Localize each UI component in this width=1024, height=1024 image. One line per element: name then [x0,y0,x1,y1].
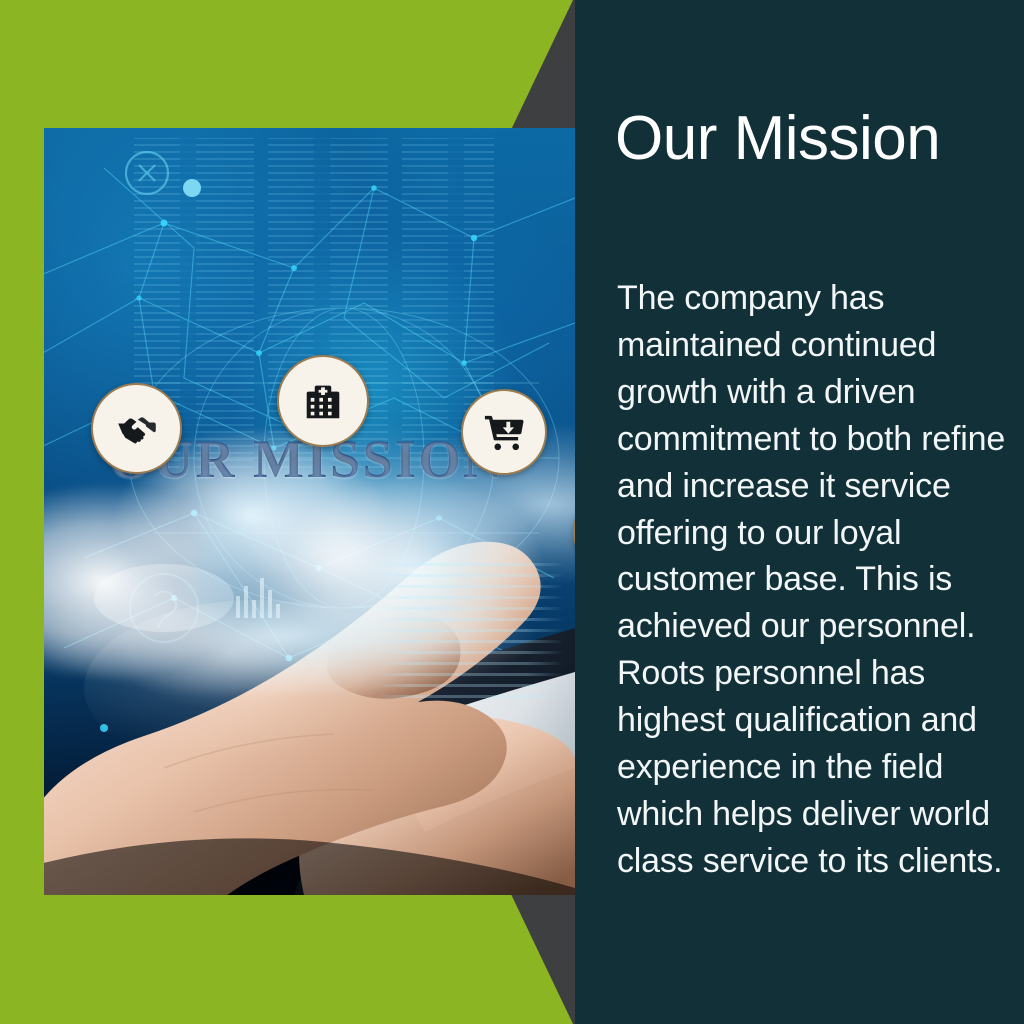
gray-wedge-bottom [470,892,590,1024]
slide-canvas: OUR MISSION [0,0,1024,1024]
handshake-icon [91,383,182,474]
page-title: Our Mission [615,105,940,173]
mission-photo: OUR MISSION [44,128,575,895]
building-icon [277,355,369,447]
gray-wedge-top [470,0,590,132]
mission-text-panel: Our Mission The company has maintained c… [575,0,1024,1024]
shopping-cart-icon [461,389,547,475]
data-text-overlay-secondary [374,558,564,698]
mission-body-text: The company has maintained continued gro… [617,275,1009,885]
